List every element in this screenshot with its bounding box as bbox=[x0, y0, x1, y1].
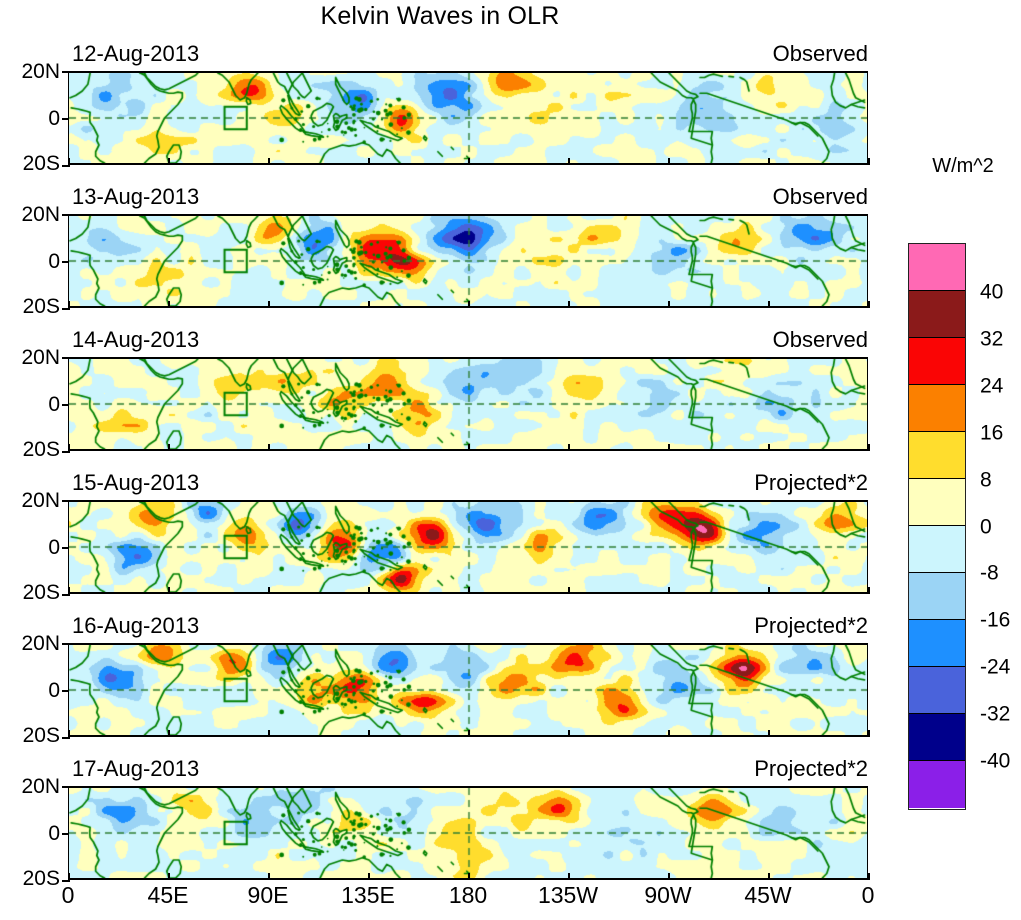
x-axis-tick bbox=[368, 873, 370, 880]
x-tick-label: 90W bbox=[644, 884, 691, 907]
colorbar-tick-label: -24 bbox=[980, 657, 1010, 678]
colorbar bbox=[908, 243, 966, 810]
x-axis-tick bbox=[868, 873, 870, 880]
x-axis-tick bbox=[668, 873, 670, 880]
colorbar-unit-label: W/m^2 bbox=[908, 155, 1018, 178]
colorbar-tick-label: -32 bbox=[980, 704, 1010, 725]
colorbar-band bbox=[909, 432, 965, 479]
colorbar-band bbox=[909, 385, 965, 432]
olr-anomaly-field bbox=[69, 788, 868, 878]
y-tick-label: 0 bbox=[0, 823, 60, 844]
colorbar-band bbox=[909, 526, 965, 573]
colorbar-band bbox=[909, 620, 965, 667]
colorbar-band bbox=[909, 573, 965, 620]
x-axis-tick bbox=[468, 873, 470, 880]
x-axis-tick bbox=[568, 873, 570, 880]
x-tick-label: 180 bbox=[449, 884, 487, 907]
x-axis-tick bbox=[768, 873, 770, 880]
panel-kind-label: Projected*2 bbox=[754, 758, 868, 780]
map-panel bbox=[68, 786, 868, 880]
colorbar-tick-labels: 4032241680-8-16-24-32-40 bbox=[972, 243, 1021, 810]
colorbar-tick-label: 32 bbox=[980, 328, 1003, 349]
panel: 17-Aug-2013Projected*220N020S bbox=[0, 0, 1021, 920]
panel-date-label: 17-Aug-2013 bbox=[72, 758, 199, 780]
colorbar-tick-label: 40 bbox=[980, 281, 1003, 302]
x-axis-tick bbox=[68, 873, 70, 880]
colorbar-tick-label: 0 bbox=[980, 516, 992, 537]
colorbar-band bbox=[909, 479, 965, 526]
x-tick-label: 0 bbox=[62, 884, 75, 907]
colorbar-band bbox=[909, 338, 965, 385]
colorbar-tick-label: 24 bbox=[980, 375, 1003, 396]
colorbar-tick-label: -8 bbox=[980, 563, 999, 584]
x-tick-label: 135E bbox=[341, 884, 395, 907]
colorbar-tick-label: -16 bbox=[980, 610, 1010, 631]
x-tick-label: 45W bbox=[744, 884, 791, 907]
colorbar-band bbox=[909, 714, 965, 761]
colorbar-tick-label: 8 bbox=[980, 469, 992, 490]
colorbar-tick-label: -40 bbox=[980, 751, 1010, 772]
colorbar-band bbox=[909, 291, 965, 338]
x-axis-tick bbox=[268, 873, 270, 880]
x-axis-tick-labels: 045E90E135E180135W90W45W0 bbox=[0, 884, 1021, 914]
x-axis-tick bbox=[168, 873, 170, 880]
figure-root: Kelvin Waves in OLR 12-Aug-2013Observed2… bbox=[0, 0, 1021, 920]
x-tick-label: 135W bbox=[538, 884, 598, 907]
colorbar-band bbox=[909, 667, 965, 714]
colorbar-band bbox=[909, 761, 965, 808]
x-tick-label: 90E bbox=[248, 884, 289, 907]
colorbar-band bbox=[909, 244, 965, 291]
x-tick-label: 0 bbox=[862, 884, 875, 907]
y-tick-label: 20N bbox=[0, 776, 60, 797]
x-tick-label: 45E bbox=[148, 884, 189, 907]
colorbar-tick-label: 16 bbox=[980, 422, 1003, 443]
